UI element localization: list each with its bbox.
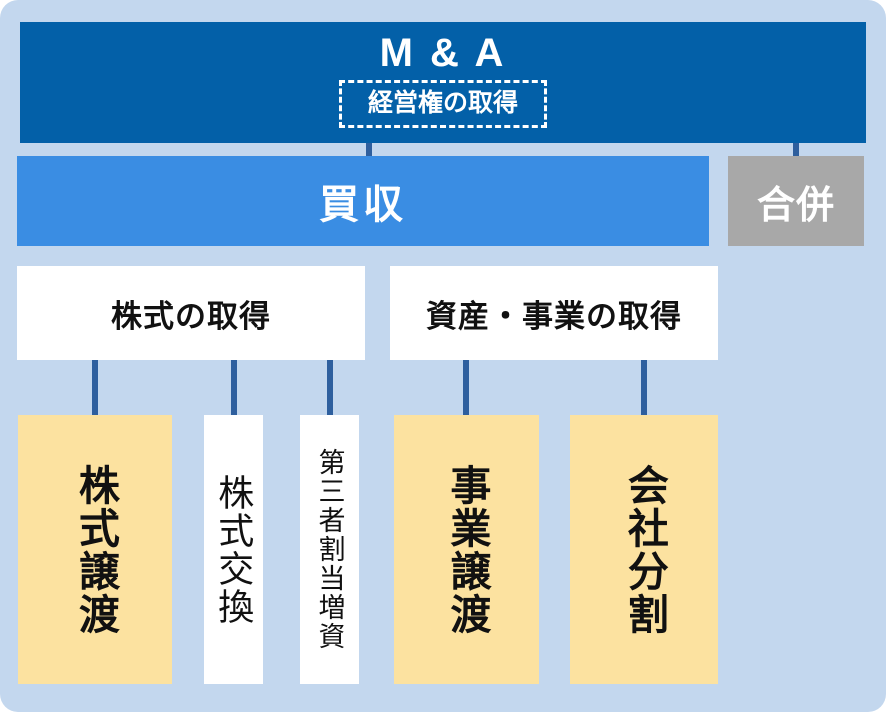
node-kabushiki-joto-label: 株式譲渡 — [74, 464, 117, 636]
connector-root-to-gappei — [793, 143, 799, 156]
node-shisan-jigyo-shutoku-label: 資産・事業の取得 — [426, 291, 682, 336]
node-kabushiki-kokan-label: 株式交換 — [215, 474, 252, 626]
node-jigyo-joto: 事業譲渡 — [394, 415, 539, 684]
node-jigyo-joto-label: 事業譲渡 — [445, 464, 488, 636]
node-kaisha-bunkatsu-label: 会社分割 — [623, 464, 666, 636]
ma-root-subtitle: 経営権の取得 — [339, 80, 547, 128]
node-baishu-label: 買収 — [319, 172, 407, 230]
node-kaisha-bunkatsu: 会社分割 — [570, 415, 718, 684]
connector-kabushiki-to-joto — [92, 360, 98, 415]
node-gappei-label: 合併 — [757, 174, 835, 229]
connector-shisan-to-kaisha-bunkatsu — [641, 360, 647, 415]
node-daisansha-wariate-zoshi: 第三者割当増資 — [300, 415, 359, 684]
node-kabushiki-shutoku: 株式の取得 — [17, 266, 365, 360]
node-kabushiki-shutoku-label: 株式の取得 — [111, 291, 271, 336]
connector-kabushiki-to-daisansha — [327, 360, 333, 415]
node-shisan-jigyo-shutoku: 資産・事業の取得 — [390, 266, 718, 360]
node-kabushiki-kokan: 株式交換 — [204, 415, 263, 684]
node-kabushiki-joto: 株式譲渡 — [18, 415, 172, 684]
node-ma-root: M & A 経営権の取得 — [20, 22, 866, 143]
ma-root-title: M & A — [380, 30, 507, 76]
connector-root-to-baishu — [366, 143, 372, 156]
ma-structure-diagram: M & A 経営権の取得 買収 合併 株式の取得 資産・事業の取得 株式譲渡 株… — [0, 0, 886, 712]
node-baishu: 買収 — [17, 156, 709, 246]
node-daisansha-wariate-zoshi-label: 第三者割当増資 — [315, 448, 343, 651]
connector-kabushiki-to-kokan — [231, 360, 237, 415]
node-gappei: 合併 — [728, 156, 864, 246]
connector-shisan-to-jigyo-joto — [463, 360, 469, 415]
